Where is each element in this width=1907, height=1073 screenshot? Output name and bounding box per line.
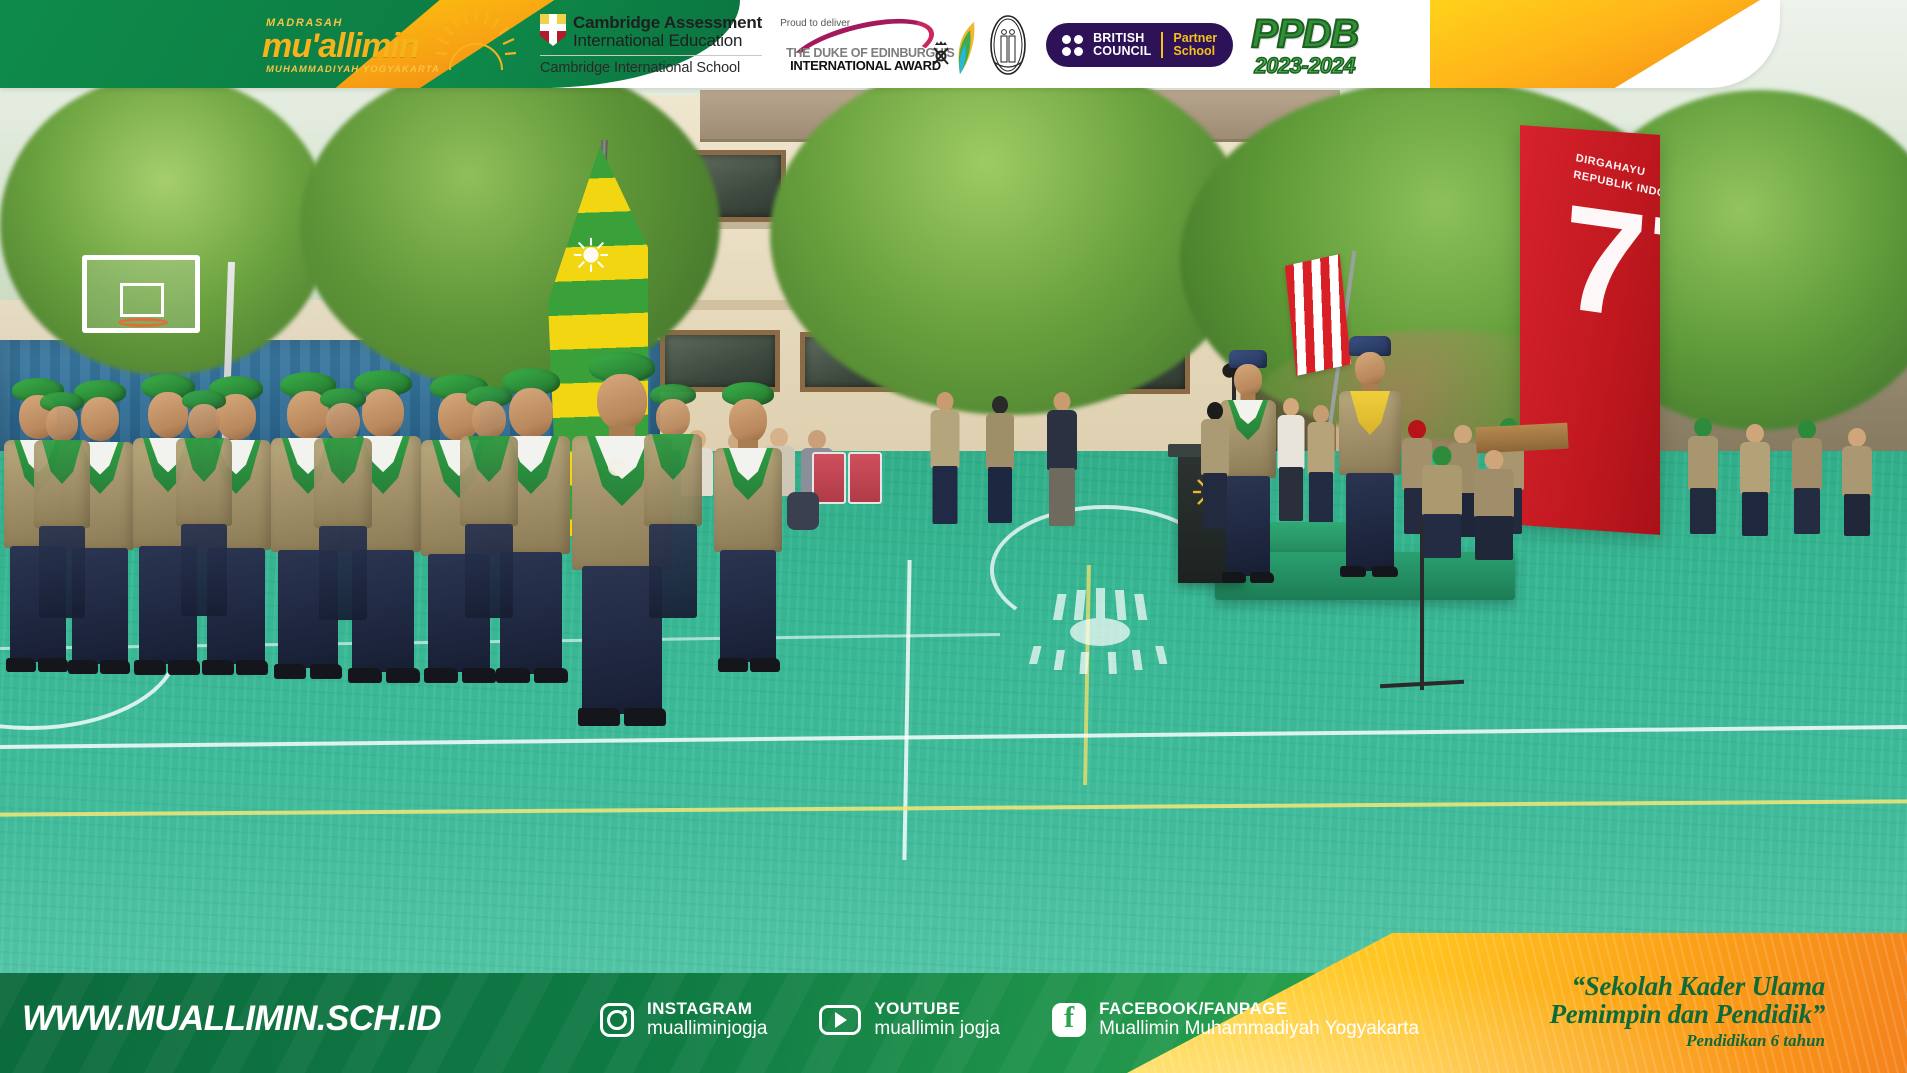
- scout-officer: [1330, 336, 1410, 576]
- tree: [300, 60, 720, 390]
- scout-legs: [1346, 473, 1394, 571]
- scout-shoe: [534, 668, 568, 683]
- scout-shoe: [310, 664, 342, 679]
- instagram-handle: mualliminjogja: [647, 1018, 767, 1040]
- tagline-line-1: “Sekolah Kader Ulama: [1550, 972, 1825, 1001]
- banner-bearer: [1200, 402, 1230, 528]
- scout-badge: [608, 458, 626, 476]
- school-tagline: “Sekolah Kader Ulama Pemimpin dan Pendid…: [1550, 972, 1825, 1051]
- tagline-line-2: Pemimpin dan Pendidik”: [1550, 1000, 1825, 1029]
- scout-shoe: [348, 668, 382, 683]
- scout-head: [46, 406, 78, 442]
- scout-cadet-backrow: [30, 392, 94, 622]
- scout-cadet-backrow: [172, 390, 236, 622]
- scout-shoe: [68, 660, 98, 674]
- tree: [770, 55, 1250, 415]
- website-url[interactable]: WWW.MUALLIMIN.SCH.ID: [22, 999, 441, 1039]
- scout-legs: [649, 524, 697, 618]
- scout-head: [472, 401, 506, 439]
- banner-number: 77: [1558, 193, 1660, 343]
- scout-shoe: [424, 668, 458, 683]
- scout-shoe: [1372, 566, 1398, 577]
- scout-shoe: [236, 660, 268, 675]
- scout-head: [656, 399, 690, 437]
- social-link-facebook[interactable]: FACEBOOK/FANPAGE Muallimin Muhammadiyah …: [1052, 999, 1419, 1040]
- background-person: [985, 396, 1015, 522]
- scout-shoe: [202, 660, 234, 675]
- tagline-line-3: Pendidikan 6 tahun: [1550, 1031, 1825, 1051]
- scout-shoe: [496, 668, 530, 683]
- backpack: [786, 492, 820, 530]
- basketball-backboard-square: [120, 283, 164, 317]
- facebook-handle: Muallimin Muhammadiyah Yogyakarta: [1099, 1018, 1419, 1040]
- scout-legs: [181, 524, 227, 616]
- scout-shoe: [100, 660, 130, 674]
- scout-legs: [319, 526, 367, 620]
- social-links: INSTAGRAM mualliminjogja YOUTUBE muallim…: [600, 999, 1419, 1040]
- youtube-handle: muallimin jogja: [874, 1018, 1000, 1040]
- scout-shoe: [274, 664, 306, 679]
- red-chair: [848, 452, 882, 504]
- social-link-instagram[interactable]: INSTAGRAM mualliminjogja: [600, 999, 767, 1040]
- scout-head: [1355, 352, 1385, 386]
- scout-shoe: [718, 658, 748, 672]
- scout-legs: [720, 550, 776, 662]
- scout-shoe: [1222, 572, 1246, 583]
- basketball-hoop-icon: [118, 318, 168, 327]
- scout-shoe: [750, 658, 780, 672]
- youtube-platform: YOUTUBE: [874, 999, 1000, 1018]
- banner-footer: WWW.MUALLIMIN.SCH.ID INSTAGRAM muallimin…: [0, 973, 1907, 1073]
- instagram-icon: [600, 1003, 634, 1037]
- scout-shoe: [1250, 572, 1274, 583]
- scout-shoe: [134, 660, 166, 675]
- scout-cadet-backrow: [456, 386, 522, 622]
- background-person: [930, 392, 960, 522]
- scout-head: [326, 403, 360, 441]
- scout-cadet-backrow: [640, 384, 706, 622]
- instagram-platform: INSTAGRAM: [647, 999, 767, 1018]
- background-person: [1840, 428, 1874, 532]
- scout-shoe: [386, 668, 420, 683]
- troop-flag-sun-icon: [572, 236, 610, 274]
- scout-legs: [1226, 476, 1270, 576]
- scout-head: [1234, 364, 1262, 396]
- seated-official: [1420, 446, 1464, 556]
- scout-shoe: [1340, 566, 1366, 577]
- scout-head: [729, 399, 767, 443]
- scout-legs: [39, 526, 85, 618]
- banner-canvas: DIRGAHAYU REPUBLIK INDONESIA 77: [0, 0, 1907, 1073]
- youtube-icon: [819, 1005, 861, 1035]
- scout-legs: [465, 524, 513, 618]
- facebook-platform: FACEBOOK/FANPAGE: [1099, 999, 1419, 1018]
- scout-ceremony-photo: DIRGAHAYU REPUBLIK INDONESIA 77: [0, 0, 1907, 1073]
- social-link-youtube[interactable]: YOUTUBE muallimin jogja: [819, 999, 1000, 1040]
- court-sun-logo-icon: [1000, 580, 1200, 680]
- seated-official: [1472, 450, 1516, 558]
- background-person: [1686, 418, 1720, 530]
- independence-day-banner: DIRGAHAYU REPUBLIK INDONESIA 77: [1520, 125, 1660, 535]
- scout-cadet-backrow: [310, 388, 376, 624]
- scout-shoe: [624, 708, 666, 726]
- scout-shoe: [6, 658, 36, 672]
- scout-cadet: [708, 382, 788, 682]
- background-person: [1738, 424, 1772, 532]
- background-person: [1790, 420, 1824, 530]
- scout-shoe: [578, 708, 620, 726]
- facebook-icon: [1052, 1003, 1086, 1037]
- scout-head: [188, 404, 220, 440]
- background-person: [1046, 392, 1078, 524]
- lectern-top: [1475, 423, 1568, 454]
